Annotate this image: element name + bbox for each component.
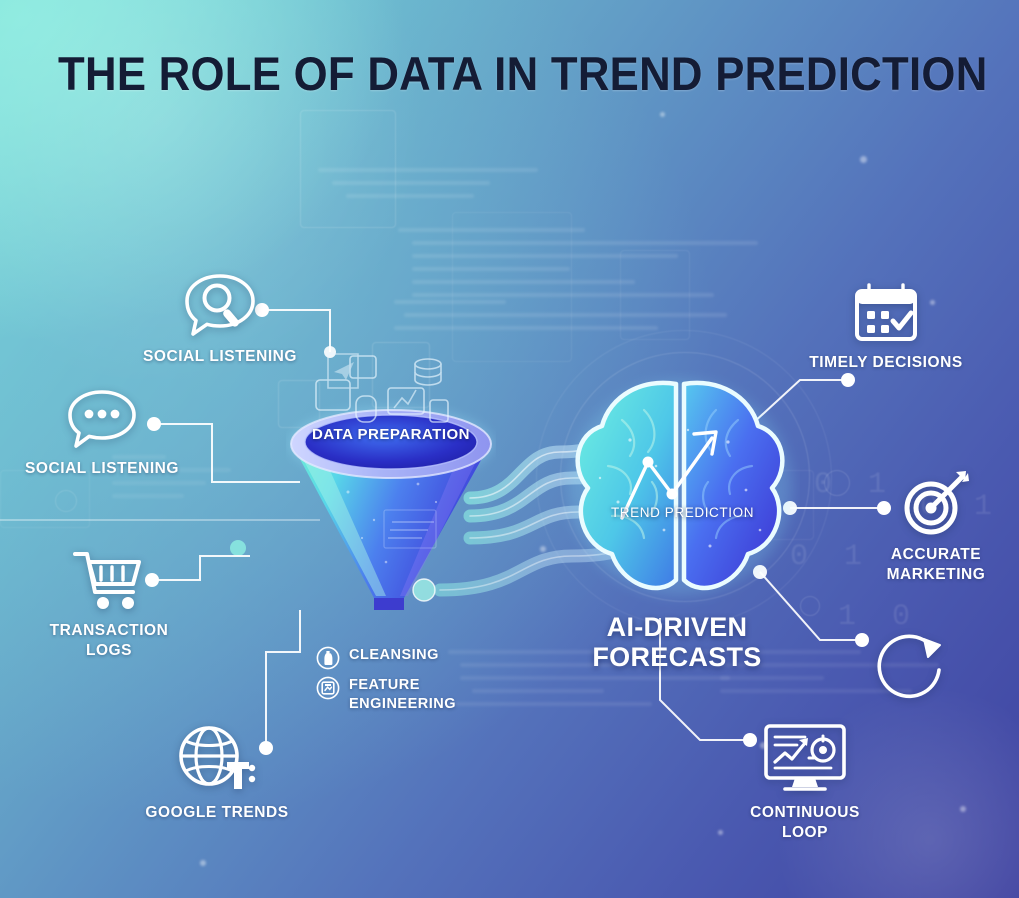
- output-label-line2: MARKETING: [887, 566, 986, 583]
- brain-label: TREND PREDICTION: [600, 505, 765, 520]
- input-label: SOCIAL LISTENING: [143, 348, 297, 365]
- outcome-title-line2: FORECASTS: [562, 642, 792, 672]
- speech-bubble-dots-icon: [22, 388, 182, 450]
- calendar-check-icon: [806, 282, 966, 344]
- output-label-line1: CONTINUOUS: [750, 804, 860, 821]
- output-node-continuous-loop[interactable]: CONTINUOUS LOOP: [730, 722, 880, 843]
- monitor-analytics-icon: [730, 722, 880, 794]
- input-label-line2: LOGS: [86, 642, 132, 659]
- input-node-transaction-logs[interactable]: TRANSACTION LOGS: [34, 548, 184, 661]
- infographic-canvas: 1 0 1 0 1 1 0 0 1 THE ROLE OF DATA IN TR…: [0, 0, 1019, 898]
- ai-brain: [560, 370, 800, 610]
- process-label: CLEANSING: [349, 646, 439, 665]
- input-label-line1: TRANSACTION: [50, 622, 169, 639]
- refresh-arrow-icon: [862, 626, 958, 708]
- output-label-line1: ACCURATE: [891, 546, 981, 563]
- output-node-accurate-marketing[interactable]: ACCURATE MARKETING: [866, 468, 1006, 585]
- outcome-title: AI-DRIVEN FORECASTS: [562, 612, 792, 672]
- globe-trends-icon: [142, 722, 292, 794]
- input-label: SOCIAL LISTENING: [25, 460, 179, 477]
- output-node-timely-decisions[interactable]: TIMELY DECISIONS: [806, 282, 966, 373]
- feature-box-icon: [316, 676, 340, 704]
- output-label-line2: LOOP: [782, 824, 828, 841]
- input-label: GOOGLE TRENDS: [145, 804, 288, 821]
- process-item-feature-engineering[interactable]: FEATUREENGINEERING: [316, 676, 446, 714]
- outcome-title-line1: AI-DRIVEN: [562, 612, 792, 642]
- target-dart-icon: [866, 468, 1006, 536]
- funnel-label: DATA PREPARATION: [302, 426, 480, 443]
- output-label: TIMELY DECISIONS: [809, 354, 963, 371]
- speech-bubble-search-icon: [140, 272, 300, 338]
- output-node-refresh-loop[interactable]: [862, 626, 958, 717]
- input-node-social-listening-search[interactable]: SOCIAL LISTENING: [140, 272, 300, 367]
- input-node-google-trends[interactable]: GOOGLE TRENDS: [142, 722, 292, 823]
- spray-bottle-icon: [316, 646, 340, 674]
- process-label: FEATUREENGINEERING: [349, 676, 456, 714]
- shopping-cart-icon: [34, 548, 184, 612]
- input-node-social-listening-chat[interactable]: SOCIAL LISTENING: [22, 388, 182, 479]
- process-item-cleansing[interactable]: CLEANSING: [316, 646, 439, 674]
